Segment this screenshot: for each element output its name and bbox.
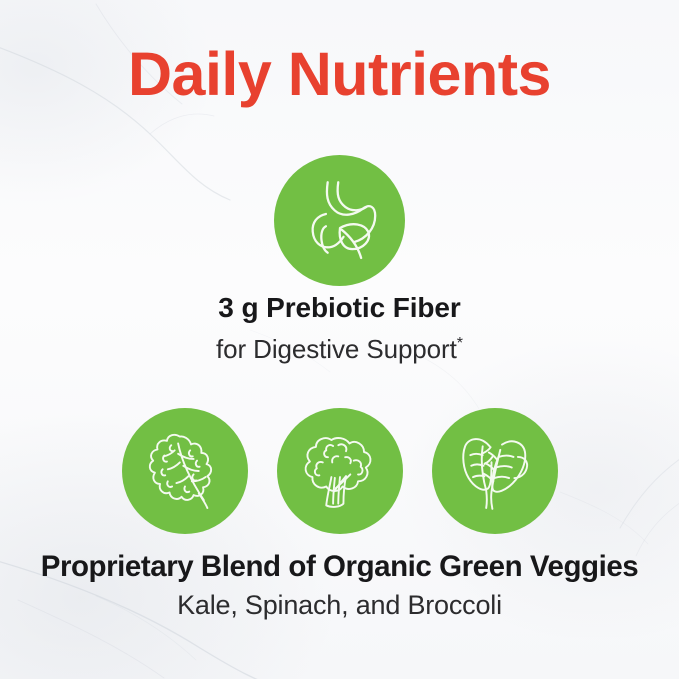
prebiotic-fiber-text: 3 g Prebiotic Fiber for Digestive Suppor…	[0, 291, 679, 366]
fiber-subline-row: for Digestive Support*	[0, 327, 679, 366]
footnote-asterisk: *	[457, 334, 463, 352]
fiber-subline: for Digestive Support	[216, 334, 457, 364]
broccoli-badge	[277, 408, 403, 534]
spinach-icon	[451, 427, 539, 515]
broccoli-icon	[297, 428, 383, 514]
blend-subline: Kale, Spinach, and Broccoli	[0, 588, 679, 623]
page-title: Daily Nutrients	[0, 44, 679, 105]
fiber-headline: 3 g Prebiotic Fiber	[0, 291, 679, 325]
daily-nutrients-panel: Daily Nutrients	[0, 0, 679, 679]
veggie-blend-text: Proprietary Blend of Organic Green Veggi…	[0, 549, 679, 623]
kale-badge	[122, 408, 248, 534]
blend-headline: Proprietary Blend of Organic Green Veggi…	[0, 549, 679, 585]
kale-icon	[142, 428, 228, 514]
spinach-badge	[432, 408, 558, 534]
stomach-leaf-icon	[296, 177, 384, 265]
prebiotic-fiber-badge	[274, 155, 405, 286]
